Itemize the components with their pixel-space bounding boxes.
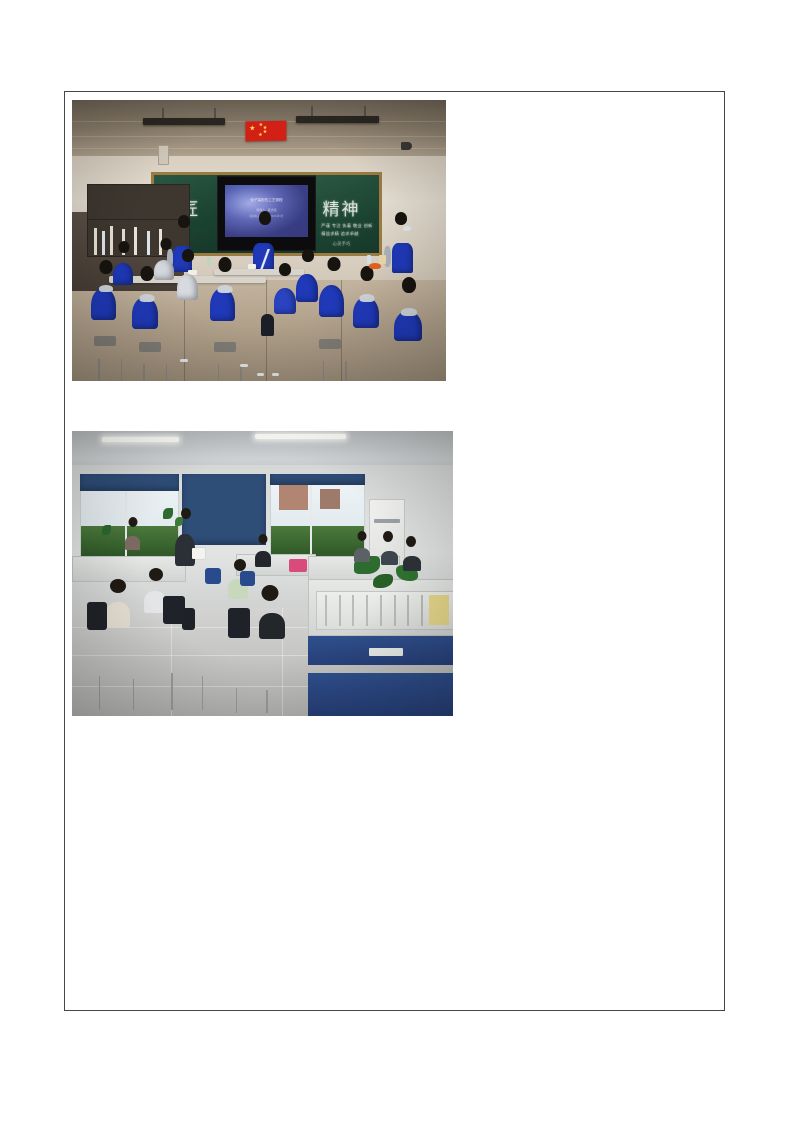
teacher-head [178,215,190,228]
student-shoe [240,364,248,367]
office-meeting-photo[interactable] [72,431,453,716]
printed-document [192,548,205,559]
ceiling-light-icon [255,434,346,439]
ceiling-lamp [143,118,225,125]
presenter-shoe [272,373,279,376]
attendee-head [234,559,246,571]
water-bottle [367,255,371,264]
blackboard-right-panel: 精神 严谨 专注 执着 敬业 创新 精益求精 追求卓越 心灵手巧 [316,175,379,253]
chair-back [214,342,236,352]
attendee-head [128,517,137,527]
cabinet-label [369,648,403,657]
presenter-head [181,508,191,519]
student-head [99,260,112,274]
water-bottle [207,257,211,266]
page-content-area: ★ ★ ★ ★ ★ 工匠 精神 严谨 专注 执着 敬业 创新 [64,91,725,1011]
bookshelf [87,184,190,256]
student-head [140,266,153,281]
office-chair [240,571,255,586]
presenter-legs [261,314,274,336]
office-scene [72,431,453,716]
student-head [302,249,314,262]
student-collar [99,285,113,292]
attendee-body [255,551,271,567]
window-blind [80,474,179,491]
attendee-head [149,568,163,581]
attendee-body [403,556,421,571]
student-body [113,263,133,285]
office-window [270,479,365,565]
attendee-body [259,613,285,639]
blackboard-note-line-2: 精益求精 追求卓越 [321,231,359,237]
student-collar [218,285,233,293]
student-head [119,241,130,253]
notebook [248,264,256,269]
standing-student-body [392,243,413,273]
standing-student-head [395,212,407,225]
student-shoe [180,359,188,362]
ceiling-light-icon [102,437,178,442]
attendee-head [357,531,366,541]
student-head [219,257,232,272]
attendee-head [406,536,416,547]
student-body [177,274,198,300]
blackboard-note-line-1: 严谨 专注 执着 敬业 创新 [321,223,372,229]
student-collar [360,294,375,302]
student-head [182,249,194,262]
slide-title: 电子装配的工艺规程 [225,198,309,203]
wall-speaker-icon [158,145,169,165]
student-collar [401,308,417,316]
potted-plant [175,517,183,526]
attendee-body [381,551,398,565]
cubicle-partition [72,556,186,582]
classroom-floor [72,280,446,381]
student-body [154,260,174,280]
orange-cap [369,263,381,269]
ceiling-lamp [296,116,378,123]
window-blind [270,474,365,485]
student-head [160,238,171,250]
classroom-presentation-photo[interactable]: ★ ★ ★ ★ ★ 工匠 精神 严谨 专注 执着 敬业 创新 [72,100,446,381]
office-chair [228,608,250,638]
document-page: ★ ★ ★ ★ ★ 工匠 精神 严谨 专注 执着 敬业 创新 [0,0,793,1122]
attendee-head [262,585,279,601]
attendee-body [125,536,140,550]
student-body [91,288,116,320]
presenter-shoe [257,373,264,376]
handout-paper [379,255,386,264]
student-head [279,263,291,276]
blackboard-signature: 心灵手巧 [333,241,351,247]
pink-handbag [289,559,307,572]
student-head [327,257,340,271]
chinese-national-flag-icon: ★ ★ ★ ★ ★ [246,121,287,142]
attendee-head [383,531,393,542]
office-chair [87,602,107,630]
office-chair [205,568,221,584]
student-body [274,288,296,314]
classroom-scene: ★ ★ ★ ★ ★ 工匠 精神 严谨 专注 执着 敬业 创新 [72,100,446,381]
attendee-head [258,534,267,544]
student-body [296,274,318,302]
window-blind [182,474,266,545]
chair-back [319,339,341,349]
student-collar [139,294,154,302]
security-camera-icon [401,142,412,150]
document-rack [316,591,453,630]
student-body [319,285,344,317]
chair-back [139,342,161,352]
attendee-body [354,548,370,562]
blackboard-text-right: 精神 [322,195,360,220]
office-chair [163,596,185,624]
student-head [402,277,416,293]
attendee-body [106,602,130,628]
cabinet-blue-panel [308,673,453,716]
chair-back [94,336,116,346]
attendee-head [110,579,126,593]
presenter-head [259,211,271,225]
